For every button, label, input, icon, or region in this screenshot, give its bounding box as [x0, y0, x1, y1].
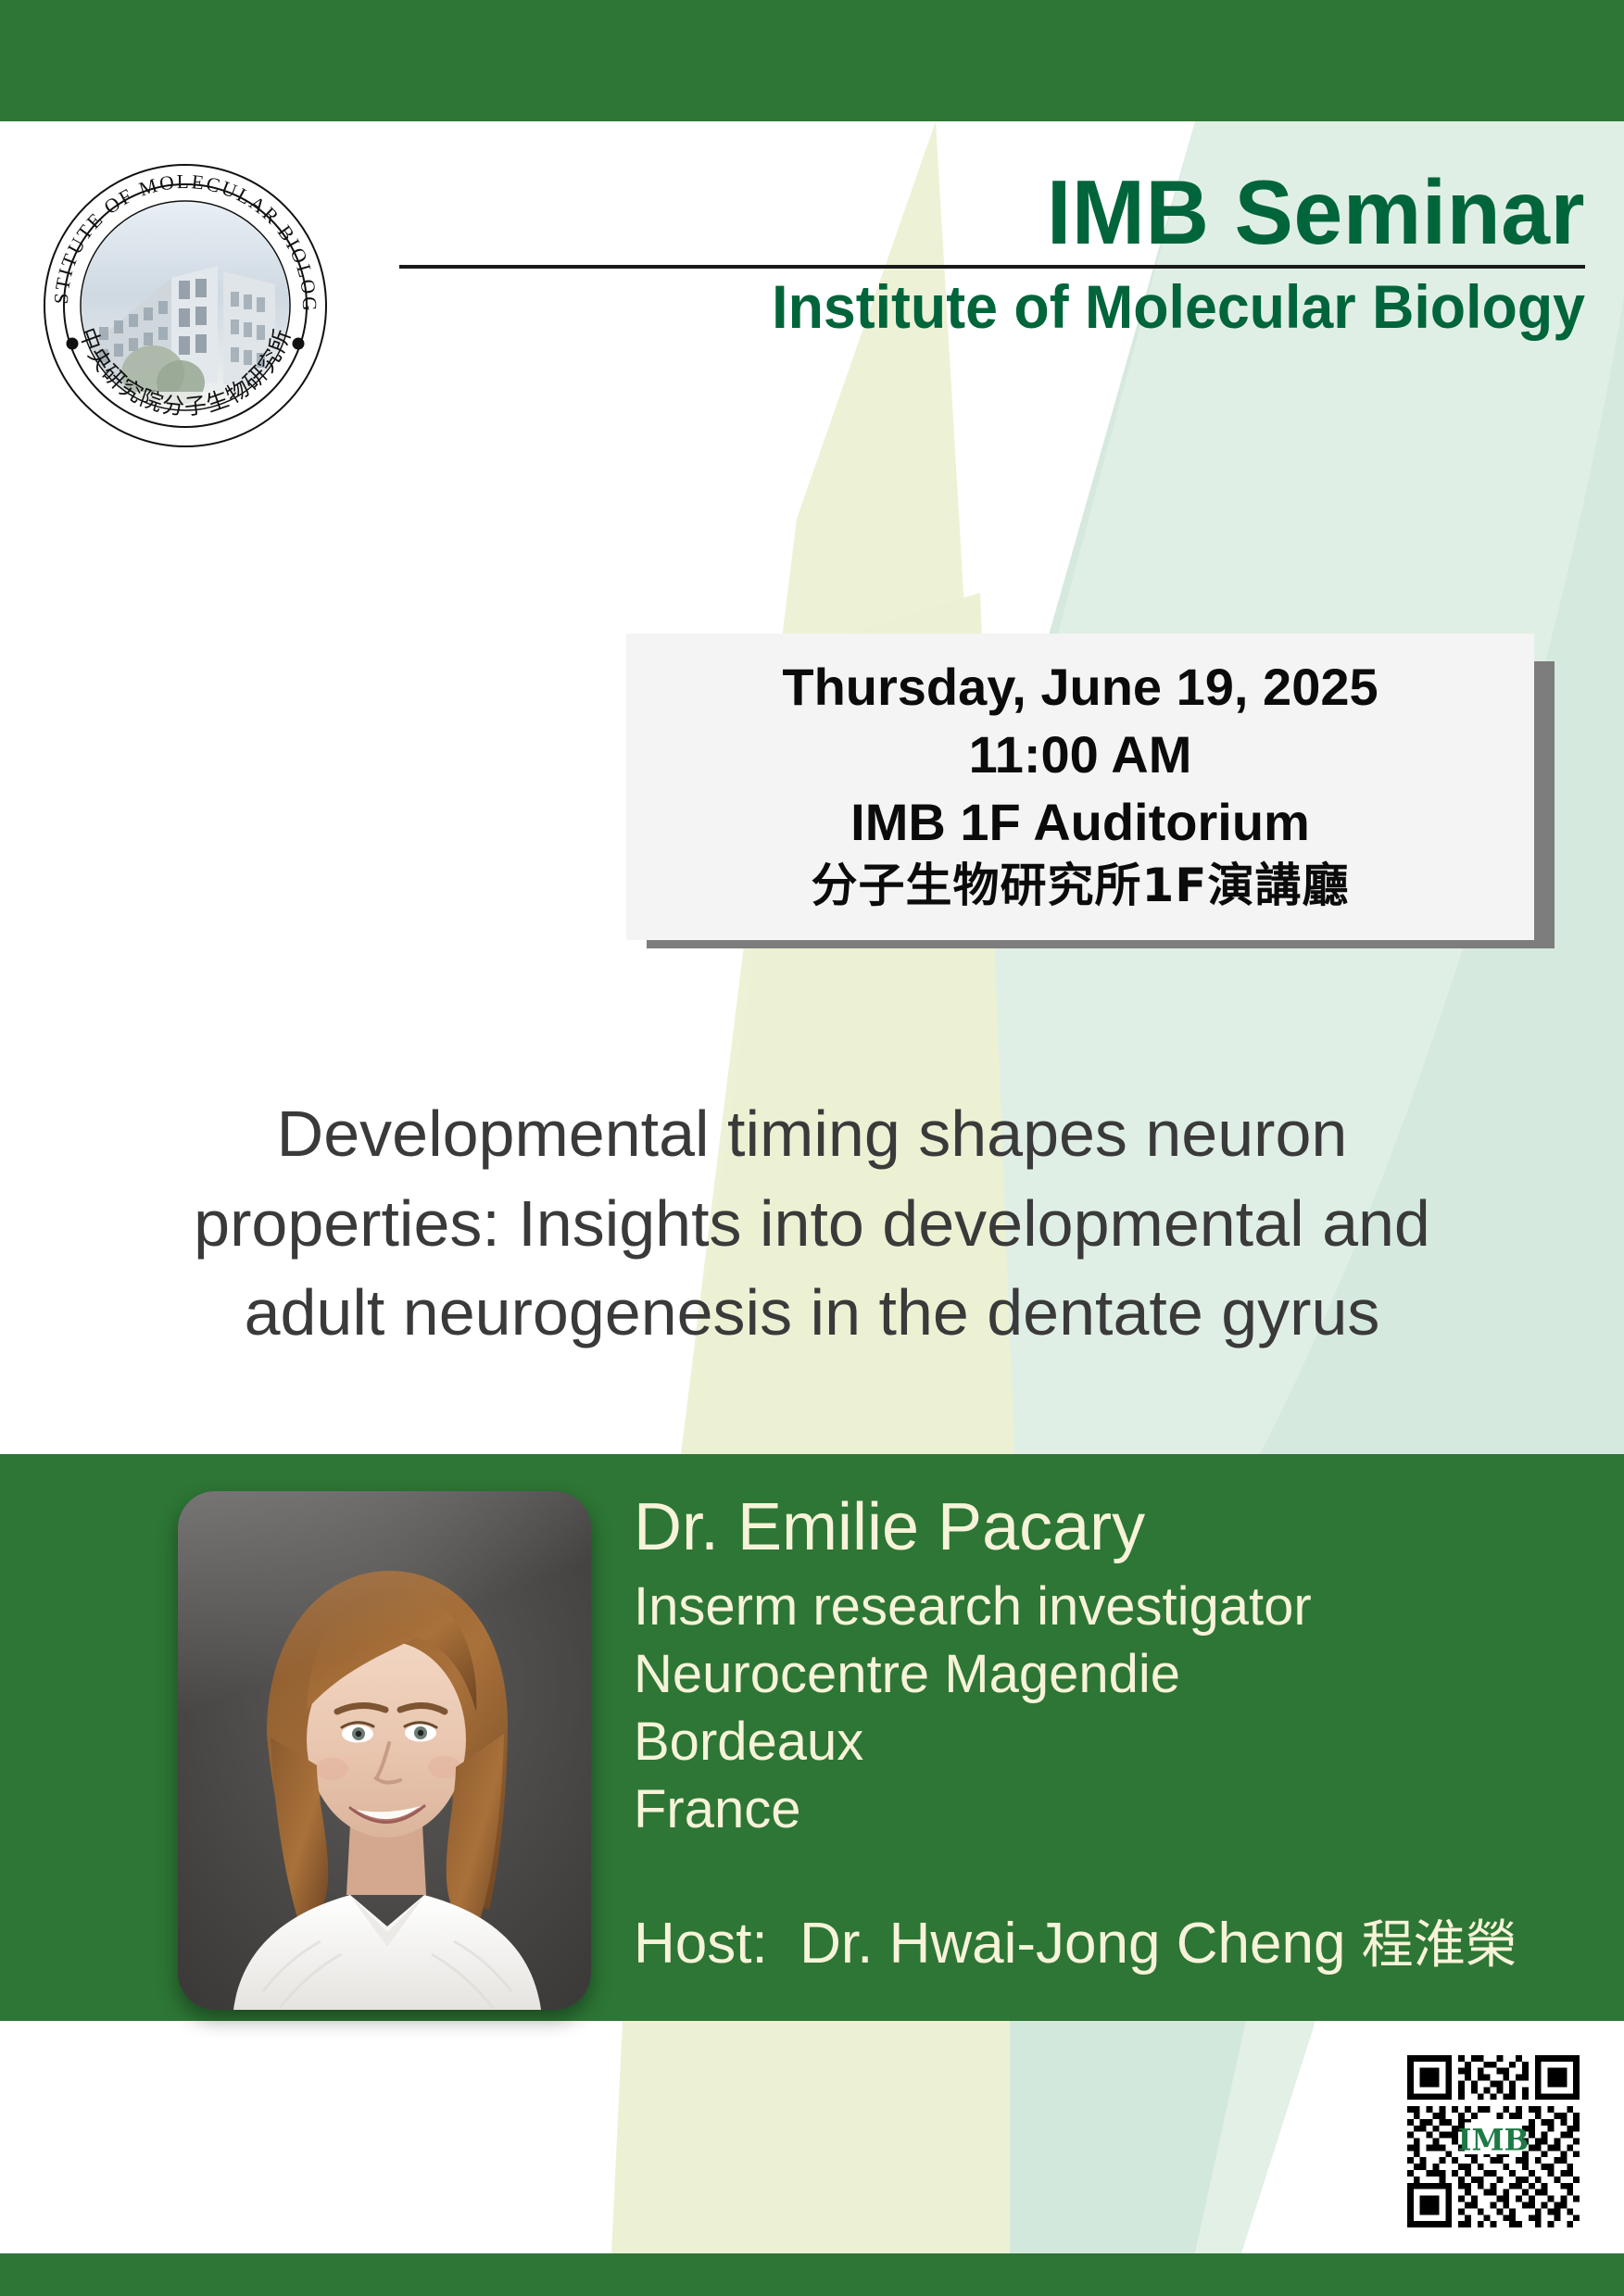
masthead-title: IMB Seminar — [434, 167, 1585, 259]
event-venue-en: IMB 1F Auditorium — [650, 789, 1510, 857]
host-label-and-name: Host: Dr. Hwai-Jong Cheng — [634, 1912, 1362, 1976]
top-green-band — [0, 0, 1624, 121]
event-date: Thursday, June 19, 2025 — [650, 654, 1510, 721]
seminar-title-line-2: properties: Insights into developmental … — [83, 1179, 1541, 1269]
masthead-subtitle: Institute of Molecular Biology — [459, 274, 1585, 340]
host-name-zh: 程淮榮 — [1362, 1915, 1517, 1976]
imb-logo-seal: INSTITUTE OF MOLECULAR BIOLOGY 中央研究院分子生物… — [42, 162, 329, 449]
qr-center-label: IMB — [1458, 2124, 1530, 2158]
speaker-affiliation-2: Neurocentre Magendie — [634, 1640, 1560, 1708]
masthead: IMB Seminar Institute of Molecular Biolo… — [399, 167, 1585, 340]
speaker-affiliation-1: Inserm research investigator — [634, 1573, 1560, 1640]
host-line: Host: Dr. Hwai-Jong Cheng 程淮榮 — [634, 1910, 1579, 1978]
speaker-details: Dr. Emilie Pacary Inserm research invest… — [634, 1489, 1560, 1843]
qr-code[interactable]: IMB — [1401, 2049, 1586, 2234]
event-info-box: Thursday, June 19, 2025 11:00 AM IMB 1F … — [626, 634, 1534, 940]
speaker-affiliation-3: Bordeaux — [634, 1708, 1560, 1775]
event-time: 11:00 AM — [650, 721, 1510, 789]
seminar-title-line-1: Developmental timing shapes neuron — [83, 1089, 1541, 1179]
seminar-title-line-3: adult neurogenesis in the dentate gyrus — [83, 1268, 1541, 1358]
speaker-photo — [178, 1491, 591, 2010]
seminar-title: Developmental timing shapes neuron prope… — [83, 1089, 1541, 1358]
seminar-poster: 2025 — [0, 0, 1624, 2296]
masthead-divider — [399, 265, 1585, 269]
speaker-name: Dr. Emilie Pacary — [634, 1489, 1560, 1567]
speaker-affiliation-4: France — [634, 1775, 1560, 1843]
event-venue-zh: 分子生物研究所1F演講廳 — [650, 856, 1510, 916]
bottom-green-band — [0, 2253, 1624, 2296]
